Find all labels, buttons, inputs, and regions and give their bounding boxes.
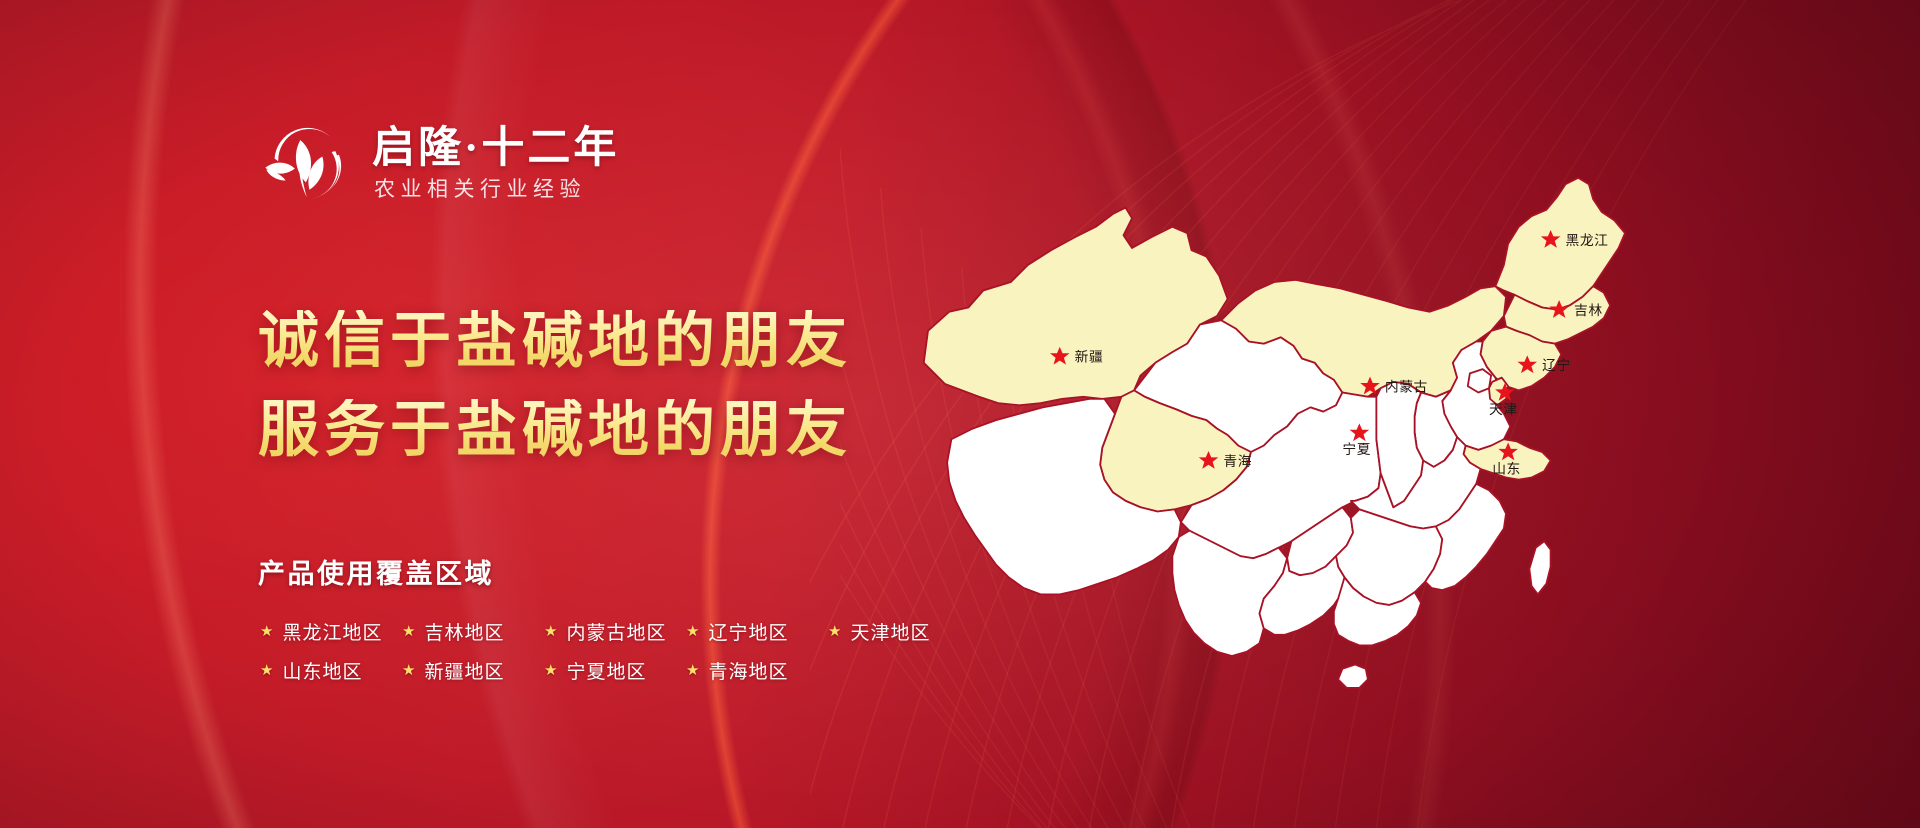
map-label-heilongjiang: 黑龙江 (1566, 233, 1609, 248)
map-label-xinjiang: 新疆 (1075, 350, 1104, 365)
region-item-xinjiang[interactable]: ★ 新疆地区 (402, 657, 544, 684)
star-icon: ★ (686, 663, 699, 678)
map-label-tianjin: 天津 (1489, 402, 1518, 417)
brand-lockup: 启隆·十二年 农业相关行业经验 (258, 118, 619, 210)
region-label: 辽宁地区 (708, 618, 788, 645)
star-icon: ★ (828, 624, 841, 639)
region-item-jilin[interactable]: ★ 吉林地区 (402, 618, 544, 645)
headline-line-1: 诚信于盐碱地的朋友 (258, 310, 852, 375)
region-row: ★ 山东地区 ★ 新疆地区 ★ 宁夏地区 ★ 青海地区 (260, 657, 970, 684)
map-label-ningxia: 宁夏 (1342, 441, 1371, 457)
banner-root: 启隆·十二年 农业相关行业经验 诚信于盐碱地的朋友 服务于盐碱地的朋友 产品使用… (0, 0, 1920, 828)
map-label-shandong: 山东 (1492, 461, 1521, 476)
region-label: 黑龙江地区 (282, 618, 382, 645)
region-label: 青海地区 (708, 657, 788, 684)
map-label-qinghai: 青海 (1223, 454, 1252, 469)
headline-block: 诚信于盐碱地的朋友 服务于盐碱地的朋友 (258, 310, 852, 463)
coverage-region-list: ★ 黑龙江地区 ★ 吉林地区 ★ 内蒙古地区 ★ 辽宁地区 ★ 天津地区 (260, 618, 970, 684)
star-icon: ★ (402, 663, 415, 678)
region-item-neimenggu[interactable]: ★ 内蒙古地区 (544, 618, 686, 645)
star-icon: ★ (544, 624, 557, 639)
region-label: 新疆地区 (424, 657, 504, 684)
star-icon: ★ (402, 624, 415, 639)
island-taiwan (1529, 541, 1550, 594)
region-item-qinghai[interactable]: ★ 青海地区 (686, 657, 828, 684)
province-beijing (1468, 369, 1491, 392)
coverage-title: 产品使用覆盖区域 (258, 552, 494, 591)
region-item-heilongjiang[interactable]: ★ 黑龙江地区 (260, 618, 402, 645)
region-label: 山东地区 (282, 657, 362, 684)
region-item-ningxia[interactable]: ★ 宁夏地区 (544, 657, 686, 684)
map-label-liaoning: 辽宁 (1542, 357, 1571, 373)
star-icon: ★ (544, 663, 557, 678)
region-label: 宁夏地区 (566, 657, 646, 684)
region-label: 吉林地区 (424, 618, 504, 645)
region-label: 内蒙古地区 (566, 618, 666, 645)
brand-text: 启隆·十二年 农业相关行业经验 (372, 125, 619, 202)
map-label-neimenggu: 内蒙古 (1385, 379, 1428, 394)
region-item-shandong[interactable]: ★ 山东地区 (260, 657, 402, 684)
china-map: 黑龙江 吉林 辽宁 内蒙古 天津 (905, 78, 1665, 758)
headline-line-2: 服务于盐碱地的朋友 (258, 399, 852, 464)
map-label-jilin: 吉林 (1574, 303, 1603, 318)
star-icon: ★ (260, 663, 273, 678)
star-icon: ★ (260, 624, 273, 639)
brand-subtitle: 农业相关行业经验 (372, 177, 619, 202)
star-icon: ★ (686, 624, 699, 639)
lotus-leaf-logo-icon (258, 118, 350, 210)
region-row: ★ 黑龙江地区 ★ 吉林地区 ★ 内蒙古地区 ★ 辽宁地区 ★ 天津地区 (260, 618, 970, 645)
brand-title: 启隆·十二年 (372, 125, 619, 173)
island-hainan (1338, 665, 1368, 688)
region-item-liaoning[interactable]: ★ 辽宁地区 (686, 618, 828, 645)
